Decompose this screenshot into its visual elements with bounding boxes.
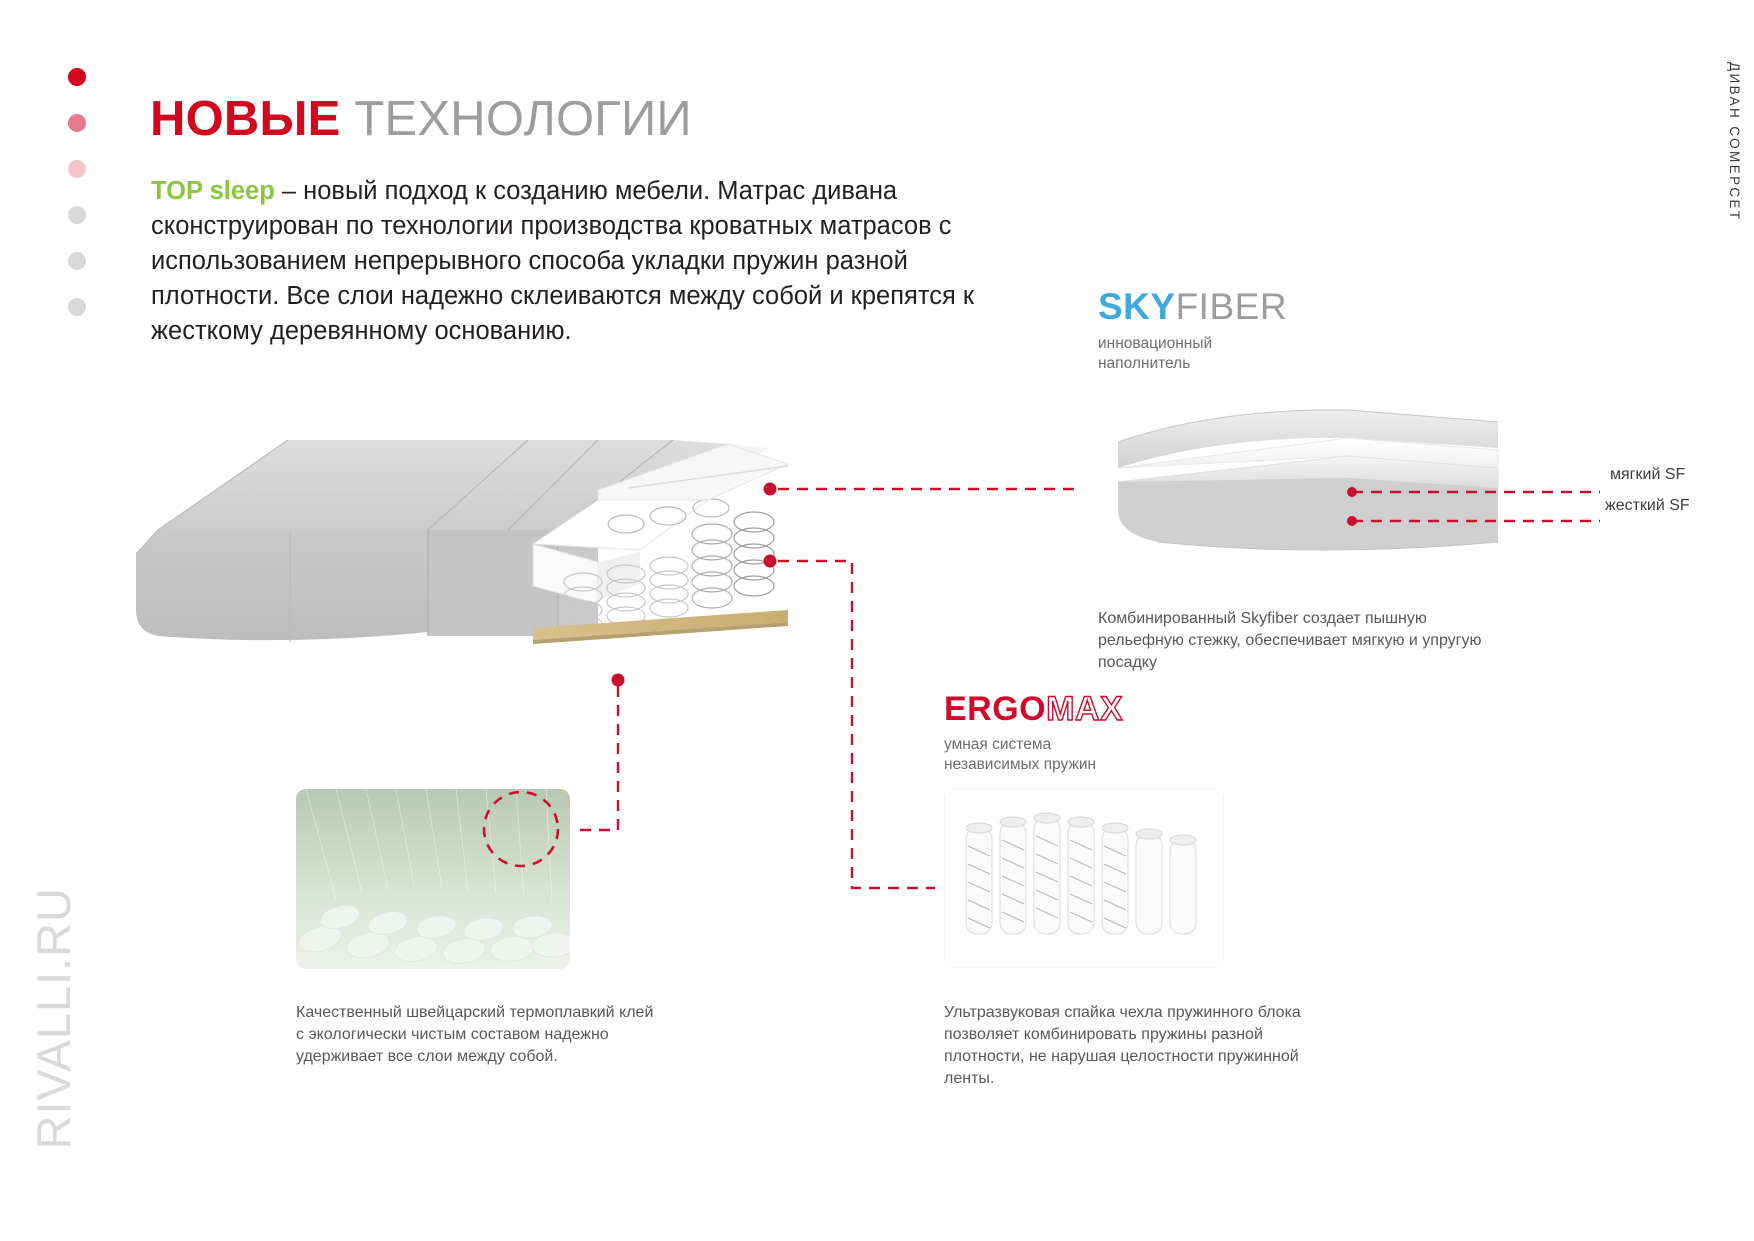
skyfiber-logo-sky: SKY [1098,286,1176,327]
ergomax-subtitle-line2: независимых пружин [944,755,1374,775]
page-title-rest: ТЕХНОЛОГИИ [341,92,692,146]
page-title: НОВЫЕ ТЕХНОЛОГИИ [150,91,692,147]
skyfiber-subtitle: инновационный наполнитель [1098,334,1568,374]
dot-5 [68,252,86,270]
skyfiber-logo-fiber: FIBER [1176,286,1287,327]
glue-photo [296,789,570,969]
label-firm-sf: жесткий SF [1605,497,1690,515]
dot-3 [68,160,86,178]
ergomax-description: Ультразвуковая спайка чехла пружинного б… [944,1002,1344,1090]
dot-1 [68,68,86,86]
skyfiber-photo [1098,392,1518,567]
intro-paragraph: TOP sleep – новый подход к созданию мебе… [151,174,1031,349]
ergomax-heading-block: ERGOMAX умная система независимых пружин [944,692,1374,775]
skyfiber-logo: SKYFIBER [1098,288,1568,325]
dot-column [68,68,92,344]
product-name-vertical: ДИВАН СОМЕРСЕТ [1727,62,1742,222]
skyfiber-subtitle-line2: наполнитель [1098,354,1568,374]
skyfiber-heading-block: SKYFIBER инновационный наполнитель [1098,288,1568,374]
label-soft-sf: мягкий SF [1610,466,1685,484]
ergomax-logo-max: MAX [1046,690,1123,728]
connector-glue [576,686,618,830]
ergomax-photo [944,788,1224,968]
watermark-site: RIVALLI.RU [26,887,81,1150]
dot-4 [68,206,86,224]
sf-body [1118,478,1498,550]
ergomax-logo-ergo: ERGO [944,690,1046,728]
ergomax-subtitle-line1: умная система [944,735,1374,755]
dot-6 [68,298,86,316]
ergomax-subtitle: умная система независимых пружин [944,735,1374,775]
ergomax-logo: ERGOMAX [944,692,1374,726]
dot-2 [68,114,86,132]
skyfiber-description: Комбинированный Skyfiber создает пышную … [1098,608,1498,674]
skyfiber-subtitle-line1: инновационный [1098,334,1568,354]
sofa-cutaway-illustration [128,404,808,666]
intro-body: – новый подход к созданию мебели. Матрас… [151,177,974,345]
page-title-accent: НОВЫЕ [150,92,341,146]
sofa-body [136,530,598,642]
slide-canvas: НОВЫЕ ТЕХНОЛОГИИ TOP sleep – новый подхо… [0,0,1754,1241]
glue-description: Качественный швейцарский термоплавкий кл… [296,1002,656,1068]
top-sleep-brand: TOP sleep [151,177,275,205]
